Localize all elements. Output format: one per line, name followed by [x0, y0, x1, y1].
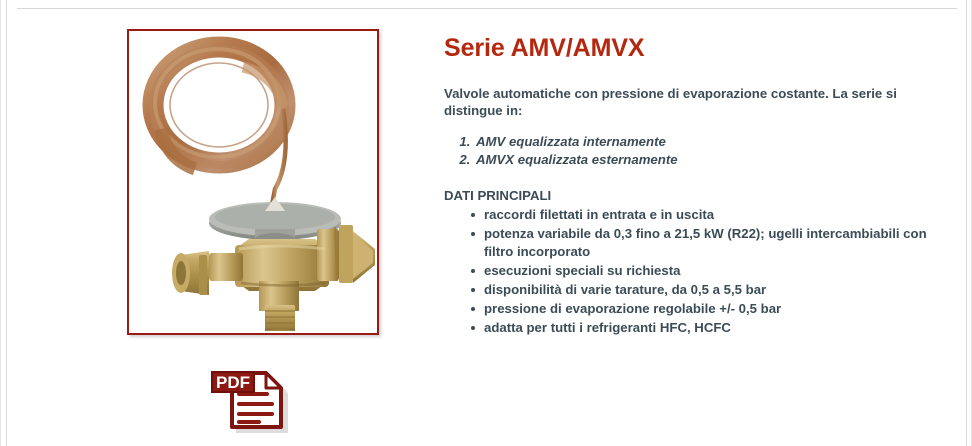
product-image-inner: [131, 33, 375, 331]
list-item: AMVX equalizzata esternamente: [474, 151, 944, 169]
right-edge-rule: [966, 0, 967, 446]
list-item: potenza variabile da 0,3 fino a 21,5 kW …: [471, 225, 944, 261]
page-container: PDF Serie AMV/AMVX Valvole automatiche c…: [0, 0, 972, 446]
specs-heading: DATI PRINCIPALI: [444, 187, 944, 204]
pdf-label: PDF: [216, 373, 250, 392]
list-item: pressione di evaporazione regolabile +/-…: [471, 300, 944, 318]
list-item: esecuzioni speciali su richiesta: [471, 262, 944, 280]
list-item: raccordi filettati in entrata e in uscit…: [471, 206, 944, 224]
specs-list: raccordi filettati in entrata e in uscit…: [444, 206, 944, 337]
list-item: adatta per tutti i refrigeranti HFC, HCF…: [471, 319, 944, 337]
list-item: AMV equalizzata internamente: [474, 133, 944, 151]
page-title: Serie AMV/AMVX: [444, 33, 944, 63]
variants-list: AMV equalizzata internamente AMVX equali…: [444, 133, 944, 169]
pdf-download-icon[interactable]: PDF: [206, 363, 294, 435]
list-item: disponibilità di varie tarature, da 0,5 …: [471, 281, 944, 299]
pdf-file-icon: PDF: [206, 363, 294, 435]
left-edge-rule: [6, 0, 7, 446]
product-description: Serie AMV/AMVX Valvole automatiche con p…: [444, 33, 944, 338]
intro-paragraph: Valvole automatiche con pressione di eva…: [444, 85, 944, 119]
top-divider: [17, 8, 957, 9]
product-image-frame[interactable]: [127, 29, 379, 335]
valve-photo: [131, 33, 375, 331]
